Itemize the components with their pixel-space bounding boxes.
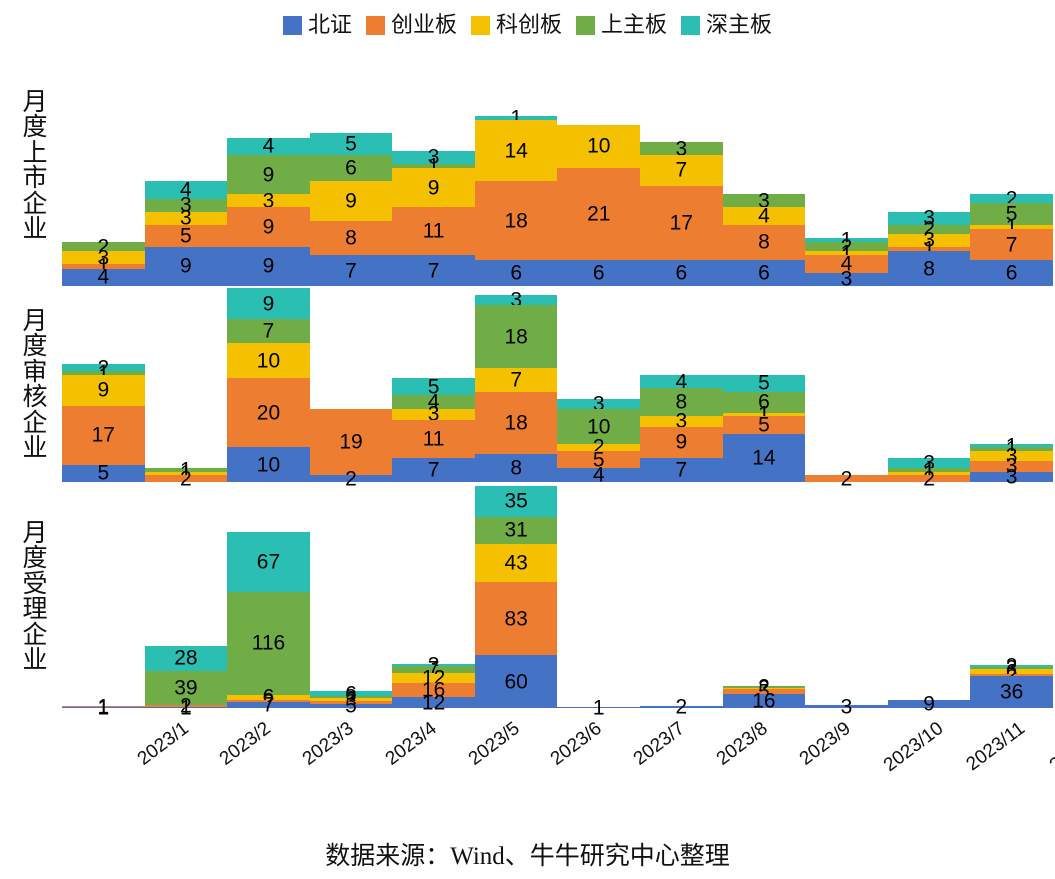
x-axis-tick-label: 2023/12 xyxy=(1046,718,1055,777)
bar-segment[interactable]: 9 xyxy=(227,207,310,246)
bar-segment[interactable]: 18 xyxy=(475,181,558,260)
bar-value-label: 18 xyxy=(475,210,558,231)
bar-value-label: 67 xyxy=(227,551,310,572)
bar-segment[interactable]: 7 xyxy=(392,255,475,286)
bar-segment[interactable]: 7 xyxy=(475,368,558,392)
legend-swatch-icon-kechuangban xyxy=(471,16,490,35)
bar-column[interactable]: 37176 xyxy=(640,46,723,286)
bar-segment[interactable]: 9 xyxy=(888,700,971,708)
bar-segment[interactable]: 16 xyxy=(723,694,806,708)
bar-segment[interactable]: 3 xyxy=(557,399,640,409)
bar-segment[interactable]: 83 xyxy=(475,582,558,655)
bar-segment[interactable]: 6 xyxy=(310,155,393,181)
bar-value-label: 6 xyxy=(557,262,640,283)
bar-column[interactable]: 97102010 xyxy=(227,288,310,482)
legend-item-shangzhuban[interactable]: 上主板 xyxy=(576,14,667,36)
bar-value-label: 7 xyxy=(970,234,1053,255)
bar-value-label: 9 xyxy=(640,432,723,453)
panel-0-plot: 2314433594939956987319117114186102163717… xyxy=(62,46,1053,286)
chart-legend: 北证创业板科创板上主板深主板 xyxy=(0,8,1055,42)
bar-segment[interactable]: 2 xyxy=(805,475,888,482)
bar-segment[interactable]: 10 xyxy=(227,343,310,378)
bar-segment[interactable]: 4 xyxy=(227,138,310,155)
bar-column[interactable]: 37121612 xyxy=(392,486,475,708)
bar-column[interactable]: 112 xyxy=(145,288,228,482)
legend-swatch-icon-chuangyeban xyxy=(366,16,385,35)
bar-segment[interactable]: 3 xyxy=(888,458,971,468)
bar-segment[interactable]: 18 xyxy=(475,305,558,367)
bar-segment[interactable]: 5 xyxy=(392,378,475,395)
bar-value-label: 5 xyxy=(392,376,475,397)
bar-segment[interactable]: 4 xyxy=(62,269,145,286)
bar-value-label: 14 xyxy=(475,140,558,161)
legend-item-kechuangban[interactable]: 科创板 xyxy=(471,14,562,36)
bar-value-label: 9 xyxy=(227,164,310,185)
bar-segment[interactable]: 9 xyxy=(640,427,723,458)
bar-value-label: 7 xyxy=(227,321,310,342)
bar-segment[interactable]: 14 xyxy=(723,434,806,483)
bar-value-label: 21 xyxy=(557,204,640,225)
bar-segment[interactable]: 2 xyxy=(62,364,145,371)
bar-segment[interactable]: 8 xyxy=(310,221,393,256)
bar-value-label: 7 xyxy=(392,260,475,281)
bar-segment[interactable]: 11 xyxy=(392,420,475,458)
legend-label-shenzhuban: 深主板 xyxy=(706,14,772,36)
bar-segment[interactable]: 2 xyxy=(310,475,393,482)
bar-value-label: 6 xyxy=(475,262,558,283)
bar-segment[interactable]: 3 xyxy=(723,194,806,207)
bar-value-label: 3 xyxy=(805,269,888,290)
bar-segment[interactable]: 6 xyxy=(723,392,806,413)
bar-segment[interactable]: 4 xyxy=(640,375,723,389)
panel-0-axis-label: 月度上市企业 xyxy=(14,46,56,286)
bar-segment[interactable]: 8 xyxy=(640,388,723,416)
bar-column[interactable]: 114186 xyxy=(475,46,558,286)
bar-column[interactable]: 11 xyxy=(62,486,145,708)
x-axis-tick-label: 2023/1 xyxy=(133,718,193,771)
bar-segment[interactable]: 9 xyxy=(227,155,310,194)
bar-segment[interactable]: 7 xyxy=(970,229,1053,260)
bar-segment[interactable]: 2 xyxy=(888,225,971,234)
x-axis-tick-label: 2023/11 xyxy=(963,718,1030,776)
bar-value-label: 6 xyxy=(723,262,806,283)
bar-value-label: 18 xyxy=(475,326,558,347)
bar-segment[interactable]: 10 xyxy=(557,409,640,444)
bar-column[interactable]: 56987 xyxy=(310,46,393,286)
bar-segment[interactable]: 3 xyxy=(392,151,475,164)
x-axis-tick-label: 2023/10 xyxy=(880,718,948,777)
bar-value-label: 5 xyxy=(723,373,806,394)
bar-column[interactable]: 3486 xyxy=(723,46,806,286)
bar-value-label: 16 xyxy=(723,690,806,711)
bar-column[interactable]: 12143 xyxy=(805,46,888,286)
bar-value-label: 5 xyxy=(970,204,1053,225)
bar-segment[interactable]: 6 xyxy=(970,260,1053,286)
bar-value-label: 14 xyxy=(723,447,806,468)
bar-segment[interactable]: 9 xyxy=(392,168,475,207)
bar-value-label: 7 xyxy=(392,459,475,480)
bar-segment[interactable]: 16 xyxy=(392,683,475,697)
bar-column[interactable]: 2 xyxy=(640,486,723,708)
bar-segment[interactable]: 5 xyxy=(557,451,640,468)
x-axis-tick-label: 2023/6 xyxy=(547,718,607,771)
bar-value-label: 4 xyxy=(557,465,640,486)
bar-segment[interactable]: 3 xyxy=(227,194,310,207)
bar-column[interactable]: 62335 xyxy=(310,486,393,708)
bar-value-label: 4 xyxy=(145,180,228,201)
bar-column[interactable]: 219175 xyxy=(62,288,145,482)
source-note: 数据来源：Wind、牛牛研究中心整理 xyxy=(0,836,1055,872)
legend-item-shenzhuban[interactable]: 深主板 xyxy=(681,14,772,36)
bar-segment[interactable]: 1 xyxy=(62,707,145,708)
bar-value-label: 10 xyxy=(227,350,310,371)
bar-segment[interactable]: 3 xyxy=(805,273,888,286)
panel-1-plot: 2191751129710201019254311731871883102544… xyxy=(62,288,1053,482)
bar-column[interactable]: 43359 xyxy=(145,46,228,286)
bar-value-label: 9 xyxy=(62,380,145,401)
bar-segment[interactable]: 4 xyxy=(392,395,475,409)
panel-2-axis-label: 月度受理企业 xyxy=(14,486,56,708)
bar-column[interactable]: 9 xyxy=(888,486,971,708)
bar-segment[interactable]: 7 xyxy=(227,702,310,708)
bar-segment[interactable]: 3 xyxy=(145,212,228,225)
bar-segment[interactable]: 19 xyxy=(310,409,393,475)
bar-segment[interactable]: 3 xyxy=(970,451,1053,461)
bar-value-label: 17 xyxy=(62,425,145,446)
bar-segment[interactable]: 12 xyxy=(392,697,475,708)
bar-column[interactable]: 3187188 xyxy=(475,288,558,482)
bar-segment[interactable]: 5 xyxy=(723,416,806,433)
bar-column[interactable]: 561514 xyxy=(723,288,806,482)
bar-segment[interactable]: 31 xyxy=(475,517,558,544)
legend-label-shangzhuban: 上主板 xyxy=(601,14,667,36)
bar-segment[interactable]: 9 xyxy=(227,247,310,286)
bar-value-label: 6 xyxy=(310,158,393,179)
bar-segment[interactable]: 3 xyxy=(888,234,971,247)
bar-segment[interactable]: 20 xyxy=(227,378,310,447)
bar-segment[interactable]: 35 xyxy=(475,486,558,517)
bar-column[interactable]: 192 xyxy=(310,288,393,482)
bar-column[interactable]: 25176 xyxy=(970,46,1053,286)
bar-column[interactable]: 67116627 xyxy=(227,486,310,708)
bar-segment[interactable]: 6 xyxy=(557,260,640,286)
bar-segment[interactable]: 5 xyxy=(145,225,228,247)
bar-segment[interactable]: 7 xyxy=(640,155,723,186)
bar-value-label: 31 xyxy=(475,520,558,541)
bar-value-label: 5 xyxy=(310,134,393,155)
bar-segment[interactable]: 4 xyxy=(723,207,806,224)
bar-segment[interactable]: 6 xyxy=(475,260,558,286)
bar-segment[interactable]: 39 xyxy=(145,671,228,706)
bar-segment[interactable]: 18 xyxy=(475,392,558,454)
bar-segment[interactable]: 4 xyxy=(557,468,640,482)
bar-segment[interactable]: 60 xyxy=(475,655,558,708)
bar-value-label: 11 xyxy=(392,221,475,242)
bar-value-label: 5 xyxy=(62,463,145,484)
bar-segment[interactable]: 7 xyxy=(640,458,723,482)
bar-value-label: 35 xyxy=(475,491,558,512)
bar-value-label: 8 xyxy=(640,392,723,413)
bar-column[interactable]: 22516 xyxy=(723,486,806,708)
bar-value-label: 6 xyxy=(970,262,1053,283)
bar-value-label: 9 xyxy=(227,217,310,238)
bar-segment[interactable]: 8 xyxy=(888,251,971,286)
x-axis-tick-label: 2023/9 xyxy=(795,718,855,771)
bar-segment[interactable]: 43 xyxy=(475,544,558,582)
bar-value-label: 4 xyxy=(227,136,310,157)
bar-value-label: 28 xyxy=(145,648,228,669)
bar-segment[interactable]: 2 xyxy=(640,706,723,708)
bar-segment[interactable]: 7 xyxy=(227,319,310,343)
bar-column[interactable]: 48397 xyxy=(640,288,723,482)
bar-segment[interactable]: 6 xyxy=(640,260,723,286)
legend-item-chuangyeban[interactable]: 创业板 xyxy=(366,14,457,36)
bar-column[interactable]: 32318 xyxy=(888,46,971,286)
bar-column[interactable]: 3531438360 xyxy=(475,486,558,708)
bar-value-label: 18 xyxy=(475,413,558,434)
bar-segment[interactable]: 6 xyxy=(723,260,806,286)
bar-value-label: 9 xyxy=(310,190,393,211)
bar-segment[interactable]: 9 xyxy=(310,181,393,220)
bar-segment[interactable]: 9 xyxy=(227,288,310,319)
bar-segment[interactable]: 1 xyxy=(557,707,640,708)
bar-value-label: 20 xyxy=(227,402,310,423)
bar-value-label: 6 xyxy=(640,262,723,283)
x-axis-tick-label: 2023/7 xyxy=(630,718,690,771)
bar-column[interactable]: 3112 xyxy=(888,288,971,482)
bar-segment[interactable]: 10 xyxy=(227,447,310,482)
bar-segment[interactable]: 2 xyxy=(145,475,228,482)
bar-segment[interactable]: 5 xyxy=(970,203,1053,225)
bar-segment[interactable]: 67 xyxy=(227,532,310,591)
bar-value-label: 4 xyxy=(723,206,806,227)
bar-segment[interactable]: 14 xyxy=(475,120,558,181)
bar-column[interactable]: 543117 xyxy=(392,288,475,482)
panel-2-bars: 1128392167116627623353712161235314383601… xyxy=(62,486,1053,708)
x-axis-tick-label: 2023/8 xyxy=(713,718,773,771)
bar-segment[interactable]: 3 xyxy=(970,461,1053,471)
x-axis-tick-label: 2023/4 xyxy=(382,718,442,771)
bar-value-label: 43 xyxy=(475,553,558,574)
bar-segment[interactable]: 10 xyxy=(557,125,640,169)
bar-column[interactable]: 2314 xyxy=(62,46,145,286)
bar-column[interactable]: 10216 xyxy=(557,46,640,286)
bar-column[interactable]: 3 xyxy=(805,486,888,708)
bar-segment[interactable]: 5 xyxy=(310,133,393,155)
panel-monthly-accepted: 月度受理企业 112839216711662762335371216123531… xyxy=(0,486,1055,708)
bar-segment[interactable]: 5 xyxy=(310,704,393,708)
legend-label-chuangyeban: 创业板 xyxy=(391,14,457,36)
bar-value-label: 8 xyxy=(723,232,806,253)
bar-value-label: 7 xyxy=(640,459,723,480)
bar-segment[interactable]: 5 xyxy=(62,465,145,482)
bar-segment[interactable]: 3 xyxy=(475,295,558,305)
bar-value-label: 8 xyxy=(475,458,558,479)
bar-segment[interactable]: 8 xyxy=(475,454,558,482)
bar-value-label: 10 xyxy=(557,136,640,157)
x-axis-tick-label: 2023/5 xyxy=(464,718,524,771)
legend-swatch-icon-beizheng xyxy=(283,16,302,35)
bar-segment[interactable]: 3 xyxy=(392,409,475,419)
legend-item-beizheng[interactable]: 北证 xyxy=(283,14,352,36)
bar-column[interactable]: 310254 xyxy=(557,288,640,482)
bar-value-label: 7 xyxy=(310,260,393,281)
panel-monthly-listed: 月度上市企业 231443359493995698731911711418610… xyxy=(0,46,1055,286)
bar-value-label: 17 xyxy=(640,212,723,233)
bar-column[interactable]: 2 xyxy=(805,288,888,482)
panel-1-bars: 2191751129710201019254311731871883102544… xyxy=(62,288,1053,482)
bar-column[interactable]: 49399 xyxy=(227,46,310,286)
legend-label-beizheng: 北证 xyxy=(308,14,352,36)
bar-column[interactable]: 283921 xyxy=(145,486,228,708)
bar-segment[interactable]: 116 xyxy=(227,592,310,695)
bar-column[interactable]: 319117 xyxy=(392,46,475,286)
bar-column[interactable]: 11333 xyxy=(970,288,1053,482)
bar-segment[interactable]: 2 xyxy=(970,194,1053,203)
legend-swatch-icon-shenzhuban xyxy=(681,16,700,35)
panel-2-plot: 1128392167116627623353712161235314383601… xyxy=(62,486,1053,708)
bar-segment[interactable]: 5 xyxy=(723,375,806,392)
bar-segment[interactable]: 2 xyxy=(557,444,640,451)
bar-segment[interactable]: 21 xyxy=(557,168,640,260)
x-axis-tick-label: 2023/2 xyxy=(216,718,276,771)
bar-value-label: 9 xyxy=(392,177,475,198)
bar-value-label: 36 xyxy=(970,682,1053,703)
bar-value-label: 19 xyxy=(310,432,393,453)
panel-1-axis-label: 月度审核企业 xyxy=(14,288,56,482)
bar-segment[interactable]: 2 xyxy=(805,242,888,251)
bar-value-label: 10 xyxy=(557,416,640,437)
bar-value-label: 8 xyxy=(888,258,971,279)
legend-swatch-icon-shangzhuban xyxy=(576,16,595,35)
bar-value-label: 5 xyxy=(145,225,228,246)
bar-segment[interactable]: 12 xyxy=(392,673,475,684)
bar-value-label: 60 xyxy=(475,671,558,692)
legend-label-kechuangban: 科创板 xyxy=(496,14,562,36)
bar-value-label: 5 xyxy=(723,414,806,435)
x-axis: 2023/12023/22023/32023/42023/52023/62023… xyxy=(62,712,1055,792)
bar-segment[interactable]: 7 xyxy=(310,255,393,286)
bar-value-label: 116 xyxy=(227,633,310,654)
bar-value-label: 39 xyxy=(145,678,228,699)
bar-segment[interactable]: 3 xyxy=(62,251,145,264)
bar-value-label: 5 xyxy=(557,449,640,470)
bar-segment[interactable]: 3 xyxy=(888,212,971,225)
bar-value-label: 7 xyxy=(640,160,723,181)
bar-segment[interactable]: 3 xyxy=(805,705,888,708)
bar-segment[interactable]: 7 xyxy=(392,458,475,482)
bar-segment[interactable]: 3 xyxy=(145,199,228,212)
bar-segment[interactable]: 9 xyxy=(62,375,145,406)
bar-segment[interactable]: 3 xyxy=(970,472,1053,482)
bar-value-label: 7 xyxy=(475,369,558,390)
bar-segment[interactable]: 3 xyxy=(640,142,723,155)
bar-value-label: 6 xyxy=(723,392,806,413)
bar-segment[interactable]: 17 xyxy=(62,406,145,465)
bar-segment[interactable]: 4 xyxy=(805,255,888,272)
bar-column[interactable]: 1 xyxy=(557,486,640,708)
bar-segment[interactable]: 9 xyxy=(145,247,228,286)
bar-value-label: 4 xyxy=(62,267,145,288)
bar-value-label: 4 xyxy=(805,254,888,275)
bar-segment[interactable]: 36 xyxy=(970,676,1053,708)
bar-value-label: 9 xyxy=(227,256,310,277)
bar-segment[interactable]: 28 xyxy=(145,646,228,671)
bar-value-label: 9 xyxy=(227,293,310,314)
bar-segment[interactable]: 8 xyxy=(723,225,806,260)
bar-segment[interactable]: 3 xyxy=(640,416,723,426)
bar-segment[interactable]: 11 xyxy=(392,207,475,255)
x-axis-tick-label: 2023/3 xyxy=(299,718,359,771)
bar-value-label: 11 xyxy=(392,428,475,449)
bar-segment[interactable]: 17 xyxy=(640,186,723,260)
bar-segment[interactable]: 2 xyxy=(62,242,145,251)
bar-segment[interactable]: 4 xyxy=(145,181,228,198)
bar-segment[interactable]: 2 xyxy=(888,475,971,482)
bar-value-label: 83 xyxy=(475,608,558,629)
panel-monthly-reviewed: 月度审核企业 219175112971020101925431173187188… xyxy=(0,288,1055,482)
bar-value-label: 10 xyxy=(227,454,310,475)
bar-segment[interactable]: 1 xyxy=(145,707,228,708)
panel-0-bars: 2314433594939956987319117114186102163717… xyxy=(62,46,1053,286)
bar-value-label: 9 xyxy=(145,256,228,277)
bar-column[interactable]: 226236 xyxy=(970,486,1053,708)
bar-value-label: 8 xyxy=(310,228,393,249)
